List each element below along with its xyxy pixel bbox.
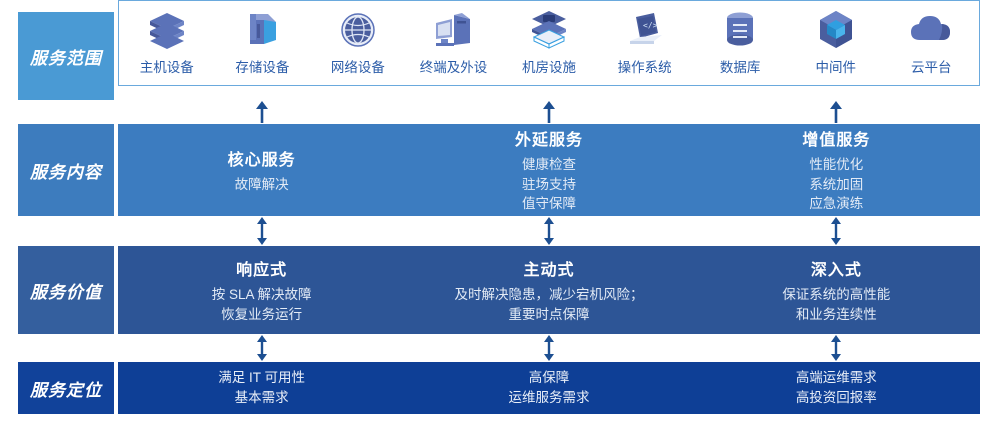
row-label-service-value: 服务价值 xyxy=(18,246,114,334)
column-lines: 健康检查 驻场支持 值守保障 xyxy=(522,155,576,214)
storage-array-icon xyxy=(242,10,282,50)
column-lines: 故障解决 xyxy=(235,175,289,195)
scope-item-cloud-platform[interactable]: 云平台 xyxy=(884,10,980,76)
value-column-indepth[interactable]: 深入式 保证系统的高性能 和业务连续性 xyxy=(693,246,980,334)
column-line: 高投资回报率 xyxy=(796,388,877,408)
column-line: 应急演练 xyxy=(809,194,863,214)
column-line: 故障解决 xyxy=(235,175,289,195)
column-title: 核心服务 xyxy=(228,146,296,170)
server-stack-icon xyxy=(147,10,187,50)
column-lines: 高端运维需求 高投资回报率 xyxy=(796,368,877,407)
column-line: 高保障 xyxy=(508,368,589,388)
arrow-double-vertical-icon xyxy=(693,334,980,362)
value-column-proactive[interactable]: 主动式 及时解决隐患，减少宕机风险； 重要时点保障 xyxy=(405,246,692,334)
column-line: 满足 IT 可用性 xyxy=(218,368,305,388)
service-scope-panel: 主机设备 存储设备 xyxy=(118,0,980,86)
row-service-content: 服务内容 核心服务 故障解决 外延服务 健康检查 驻场支持 值守保障 xyxy=(0,124,1000,216)
data-center-facility-icon xyxy=(528,10,570,50)
scope-item-label: 中间件 xyxy=(815,56,856,76)
column-lines: 满足 IT 可用性 基本需求 xyxy=(218,368,305,407)
service-framework-diagram: 服务范围 主机设备 xyxy=(0,0,1000,424)
column-line: 基本需求 xyxy=(218,388,305,408)
column-lines: 保证系统的高性能 和业务连续性 xyxy=(782,285,890,324)
column-line: 保证系统的高性能 xyxy=(782,285,890,305)
scope-item-database[interactable]: 数据库 xyxy=(692,10,788,76)
column-line: 性能优化 xyxy=(809,155,863,175)
value-column-responsive[interactable]: 响应式 按 SLA 解决故障 恢复业务运行 xyxy=(118,246,405,334)
scope-item-middleware[interactable]: 中间件 xyxy=(788,10,884,76)
row-service-value: 服务价值 响应式 按 SLA 解决故障 恢复业务运行 主动式 及时解决隐患，减少… xyxy=(0,246,1000,334)
column-line: 值守保障 xyxy=(522,194,576,214)
column-line: 和业务连续性 xyxy=(782,305,890,325)
scope-item-data-center-facility[interactable]: 机房设施 xyxy=(501,10,597,76)
column-title: 外延服务 xyxy=(515,126,583,150)
column-line: 系统加固 xyxy=(809,175,863,195)
column-line: 恢复业务运行 xyxy=(212,305,312,325)
positioning-column-high-end[interactable]: 高端运维需求 高投资回报率 xyxy=(693,362,980,414)
cloud-platform-icon xyxy=(909,10,953,50)
desktop-pc-icon xyxy=(432,10,474,50)
row-label-service-scope: 服务范围 xyxy=(18,12,114,100)
scope-item-storage-equipment[interactable]: 存储设备 xyxy=(215,10,311,76)
content-column-value-added-service[interactable]: 增值服务 性能优化 系统加固 应急演练 xyxy=(693,124,980,216)
row-label-service-positioning: 服务定位 xyxy=(18,362,114,414)
column-line: 高端运维需求 xyxy=(796,368,877,388)
service-value-bar: 响应式 按 SLA 解决故障 恢复业务运行 主动式 及时解决隐患，减少宕机风险；… xyxy=(118,246,980,334)
row-service-positioning: 服务定位 满足 IT 可用性 基本需求 高保障 运维服务需求 xyxy=(0,362,1000,414)
service-positioning-bar: 满足 IT 可用性 基本需求 高保障 运维服务需求 高端运维需求 高投资回报率 xyxy=(118,362,980,414)
scope-item-network-equipment[interactable]: 网络设备 xyxy=(310,10,406,76)
arrow-double-vertical-icon xyxy=(405,216,692,246)
scope-item-operating-system[interactable]: </> 操作系统 xyxy=(597,10,693,76)
cube-middleware-icon xyxy=(817,10,855,50)
scope-item-label: 机房设施 xyxy=(522,56,576,76)
row-label-service-content: 服务内容 xyxy=(18,124,114,216)
positioning-column-basic[interactable]: 满足 IT 可用性 基本需求 xyxy=(118,362,405,414)
content-column-core-service[interactable]: 核心服务 故障解决 xyxy=(118,124,405,216)
arrow-up-icon xyxy=(405,100,692,124)
arrow-up-icon xyxy=(118,100,405,124)
column-title: 主动式 xyxy=(523,256,574,280)
column-lines: 性能优化 系统加固 应急演练 xyxy=(809,155,863,214)
arrow-up-icon xyxy=(693,100,980,124)
arrow-double-vertical-icon xyxy=(693,216,980,246)
arrow-double-vertical-icon xyxy=(405,334,692,362)
column-line: 按 SLA 解决故障 xyxy=(212,285,312,305)
column-title: 增值服务 xyxy=(802,126,870,150)
arrow-double-vertical-icon xyxy=(118,216,405,246)
column-title: 深入式 xyxy=(811,256,862,280)
scope-item-label: 终端及外设 xyxy=(420,56,488,76)
column-line: 及时解决隐患，减少宕机风险； xyxy=(454,285,643,305)
scope-item-label: 操作系统 xyxy=(618,56,672,76)
content-column-extended-service[interactable]: 外延服务 健康检查 驻场支持 值守保障 xyxy=(405,124,692,216)
column-lines: 按 SLA 解决故障 恢复业务运行 xyxy=(212,285,312,324)
connector-scope-to-content xyxy=(118,100,980,124)
laptop-code-icon: </> xyxy=(624,10,666,50)
svg-text:</>: </> xyxy=(643,21,658,30)
scope-item-label: 网络设备 xyxy=(331,56,385,76)
service-content-bar: 核心服务 故障解决 外延服务 健康检查 驻场支持 值守保障 增值服务 xyxy=(118,124,980,216)
column-line: 运维服务需求 xyxy=(508,388,589,408)
positioning-column-high-assurance[interactable]: 高保障 运维服务需求 xyxy=(405,362,692,414)
scope-item-host-equipment[interactable]: 主机设备 xyxy=(119,10,215,76)
column-line: 重要时点保障 xyxy=(454,305,643,325)
column-lines: 及时解决隐患，减少宕机风险； 重要时点保障 xyxy=(454,285,643,324)
database-cylinder-icon xyxy=(722,10,758,50)
scope-item-label: 主机设备 xyxy=(140,56,194,76)
column-line: 健康检查 xyxy=(522,155,576,175)
connector-value-to-positioning xyxy=(118,334,980,362)
arrow-double-vertical-icon xyxy=(118,334,405,362)
scope-item-label: 云平台 xyxy=(911,56,952,76)
column-title: 响应式 xyxy=(236,256,287,280)
scope-item-label: 存储设备 xyxy=(235,56,289,76)
scope-item-terminal-peripherals[interactable]: 终端及外设 xyxy=(406,10,502,76)
column-line: 驻场支持 xyxy=(522,175,576,195)
globe-network-icon xyxy=(339,10,377,50)
scope-item-label: 数据库 xyxy=(720,56,761,76)
column-lines: 高保障 运维服务需求 xyxy=(508,368,589,407)
connector-content-to-value xyxy=(118,216,980,246)
